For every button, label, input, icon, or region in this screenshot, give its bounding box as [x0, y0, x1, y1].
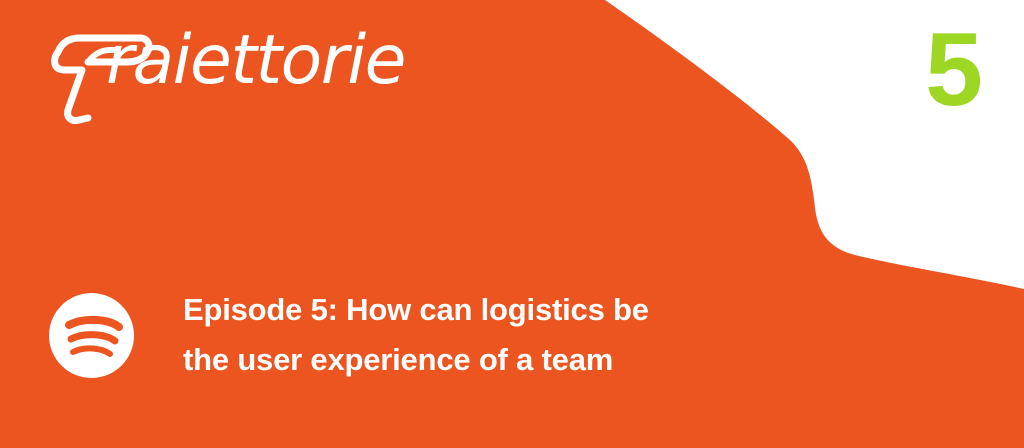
episode-info-row: Episode 5: How can logistics be the user…: [49, 285, 949, 385]
spotify-badge[interactable]: [49, 293, 134, 378]
episode-number: 5: [920, 18, 986, 122]
episode-cover-card: raiettorie 5 Episode 5: How can logistic…: [0, 0, 1024, 448]
brand-wordmark: raiettorie: [106, 27, 405, 95]
spotify-icon: [49, 293, 134, 378]
episode-title: Episode 5: How can logistics be the user…: [183, 285, 649, 385]
